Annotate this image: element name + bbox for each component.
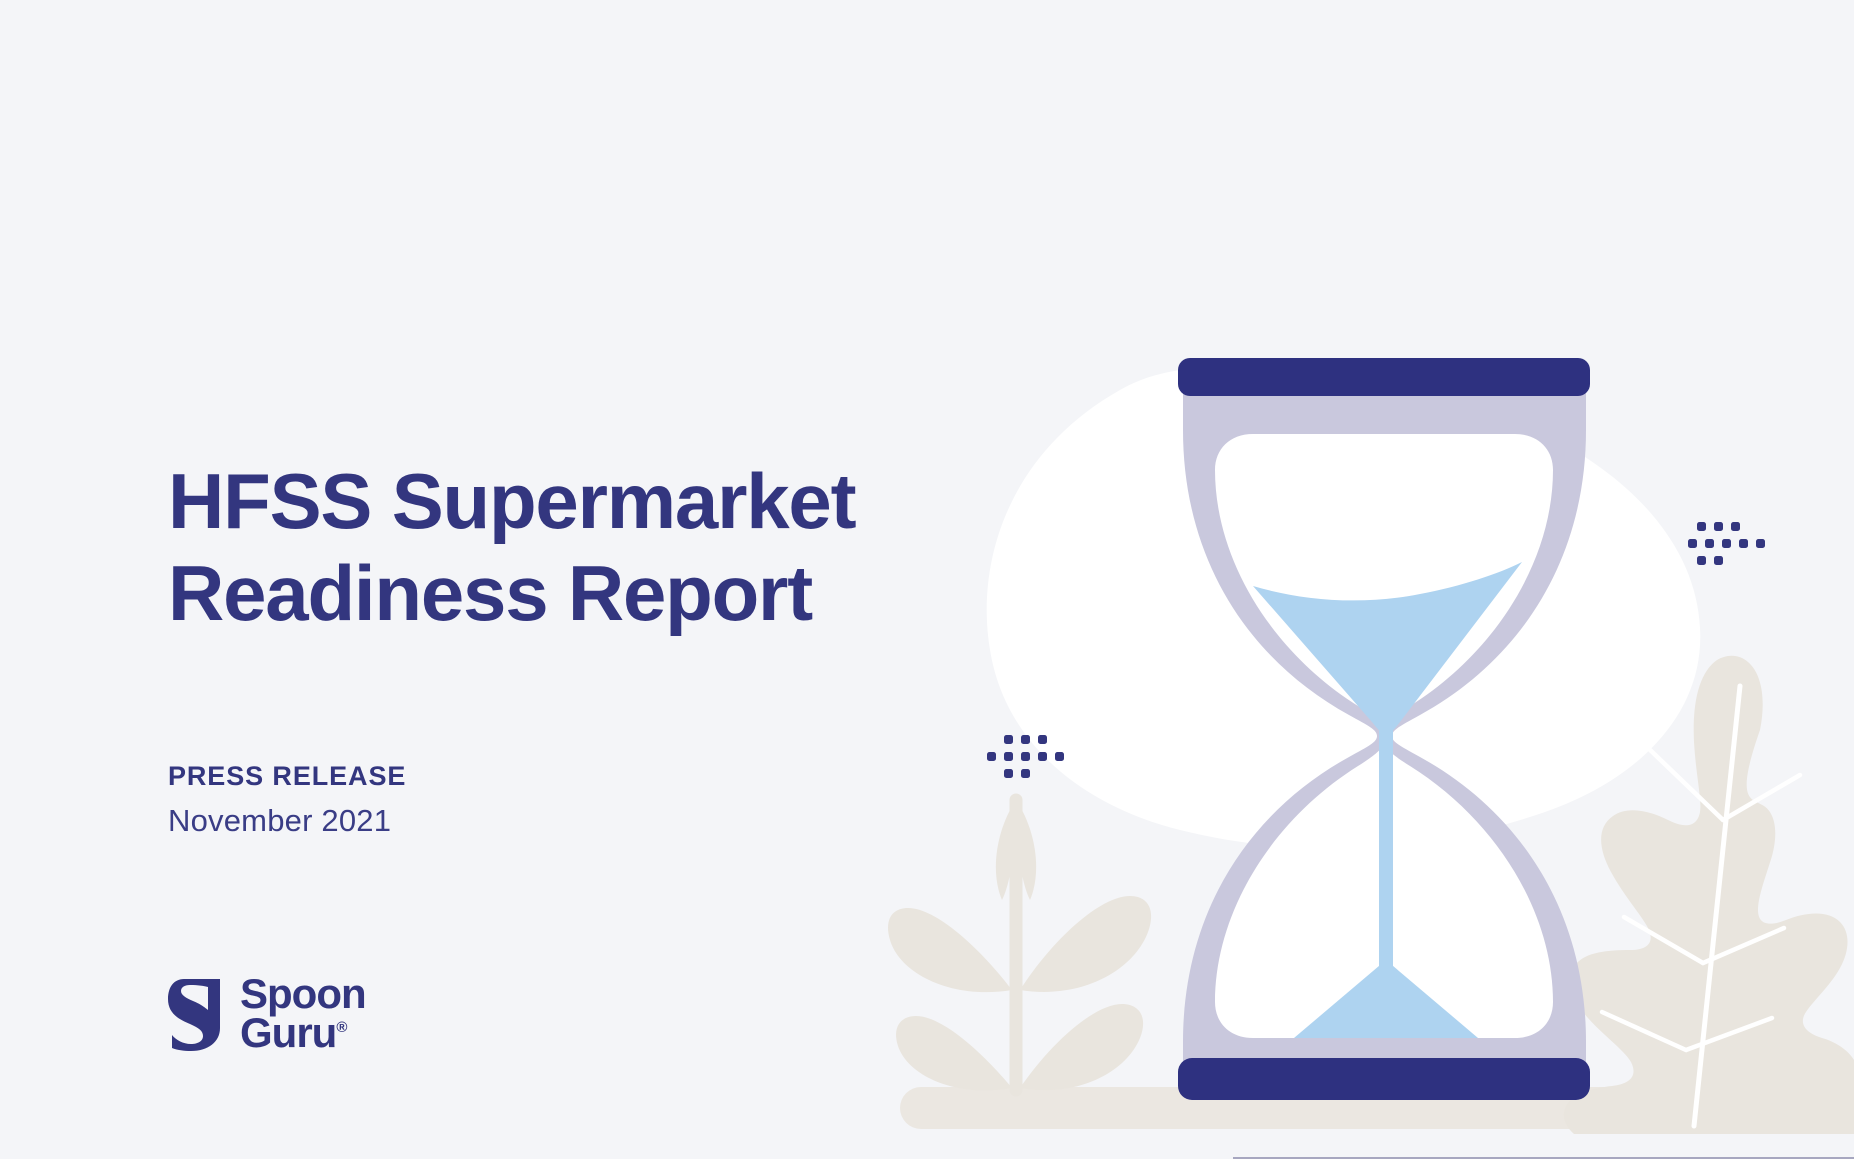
- wordmark-guru: Guru: [240, 1009, 336, 1056]
- kicker-group: PRESS RELEASE November 2021: [168, 757, 1068, 845]
- hourglass-cap-top: [1178, 358, 1590, 396]
- publication-date: November 2021: [168, 798, 1068, 845]
- dot-cluster-right: [1688, 522, 1765, 565]
- registered-trademark-symbol: ®: [336, 1019, 347, 1036]
- hourglass-sand-stream: [1379, 700, 1393, 1000]
- spoon-guru-s-mark-icon: [168, 977, 230, 1051]
- spoon-guru-wordmark: Spoon Guru®: [240, 975, 366, 1052]
- cover-text-block: HFSS Supermarket Readiness Report PRESS …: [168, 455, 1068, 845]
- press-release-kicker: PRESS RELEASE: [168, 757, 1068, 796]
- wordmark-line-2: Guru®: [240, 1014, 366, 1053]
- page-title: HFSS Supermarket Readiness Report: [168, 455, 1068, 639]
- spoon-guru-logo[interactable]: Spoon Guru®: [168, 975, 366, 1052]
- hourglass-cap-bottom: [1178, 1058, 1590, 1100]
- press-release-cover-slide: HFSS Supermarket Readiness Report PRESS …: [0, 0, 1854, 1159]
